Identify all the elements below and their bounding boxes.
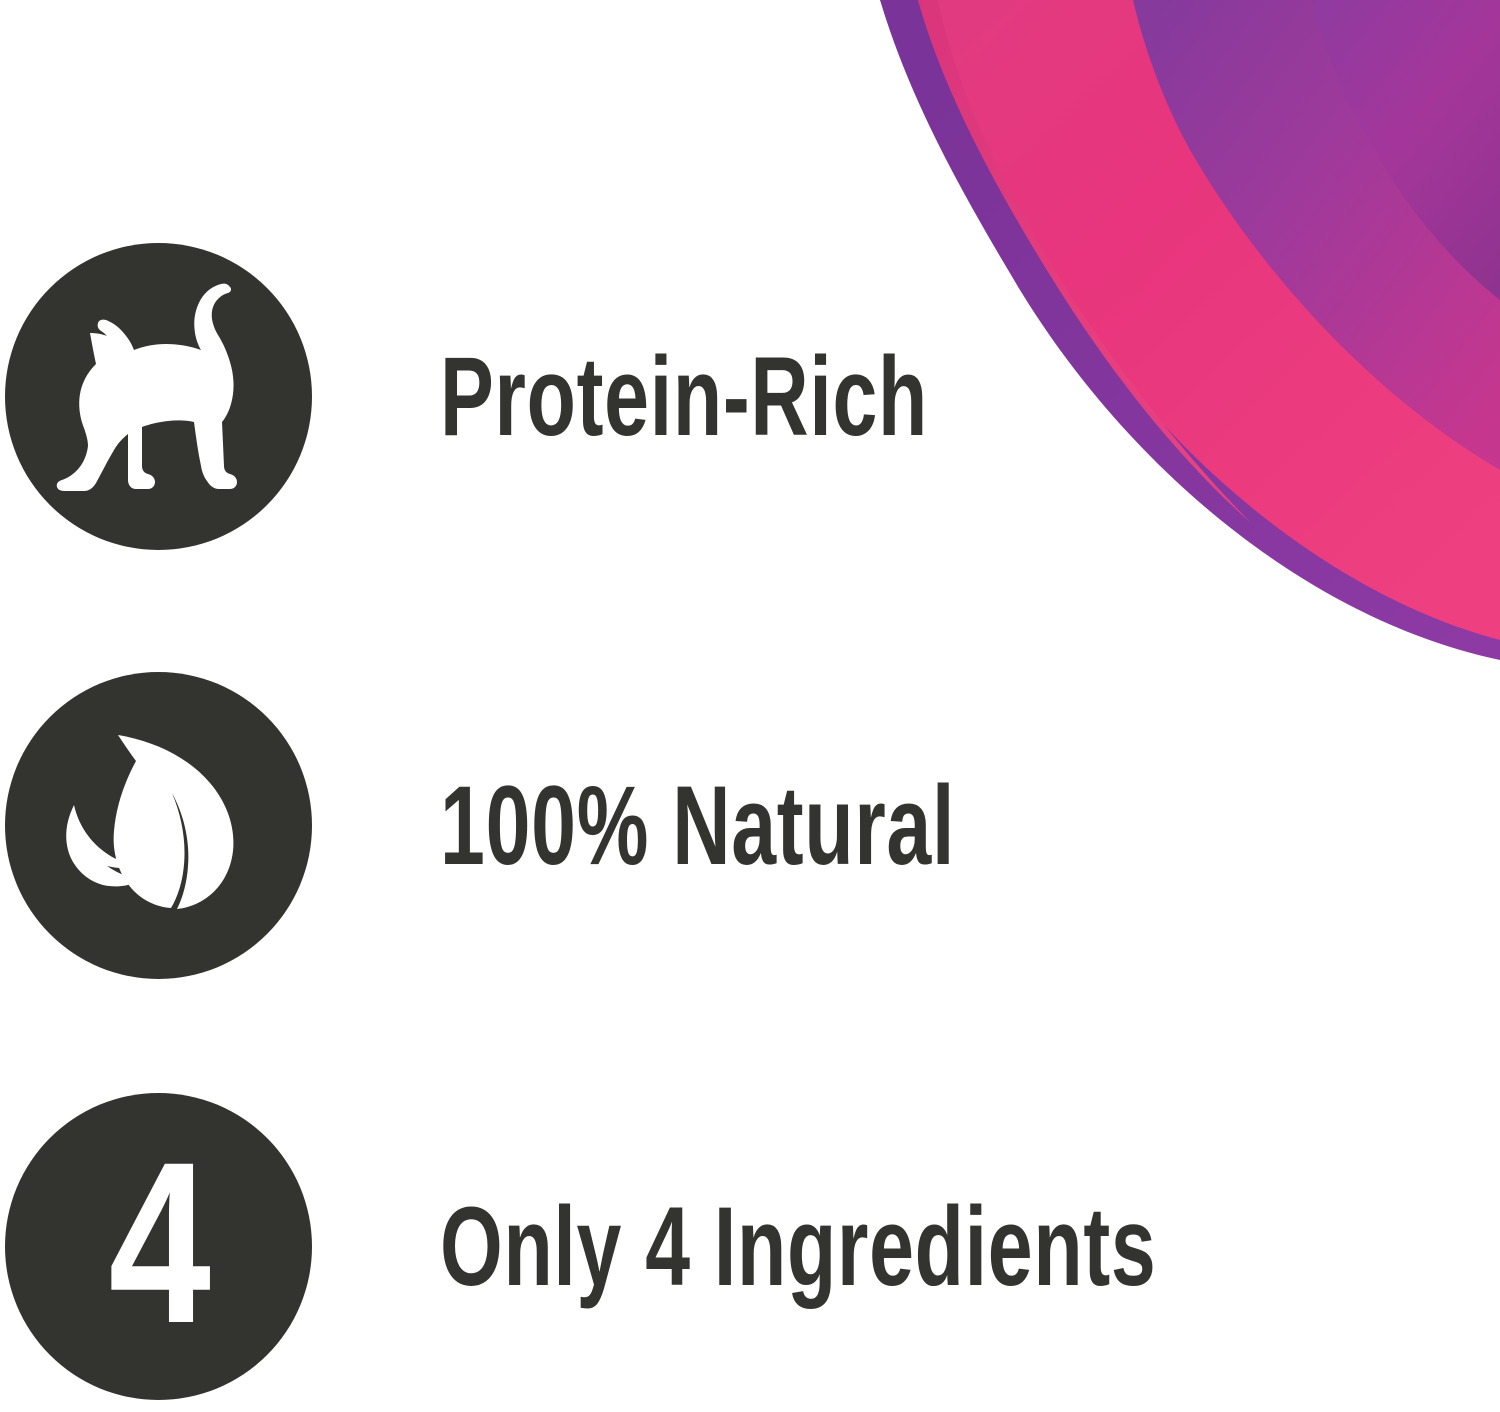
feature-item-protein-rich: Protein-Rich: [0, 243, 1118, 550]
feature-label-protein-rich: Protein-Rich: [440, 341, 928, 453]
badge-circle-ingredients: 4: [5, 1093, 312, 1400]
leaf-icon: [44, 711, 274, 941]
feature-item-natural: 100% Natural: [0, 672, 1155, 979]
feature-label-natural: 100% Natural: [440, 770, 955, 882]
badge-circle-natural: [5, 672, 312, 979]
badge-circle-protein-rich: [5, 243, 312, 550]
wave-layer-purple-top: [1133, 0, 1500, 470]
number-four-icon: 4: [108, 1128, 209, 1358]
feature-label-ingredients: Only 4 Ingredients: [440, 1191, 1156, 1303]
feature-badge-panel: Protein-Rich 100% Natural 4 Only 4 Ingre…: [0, 0, 1500, 1412]
feature-item-ingredients: 4 Only 4 Ingredients: [0, 1093, 1435, 1400]
wave-layer-purple-back: [1312, 0, 1500, 300]
cat-icon: [44, 282, 274, 512]
